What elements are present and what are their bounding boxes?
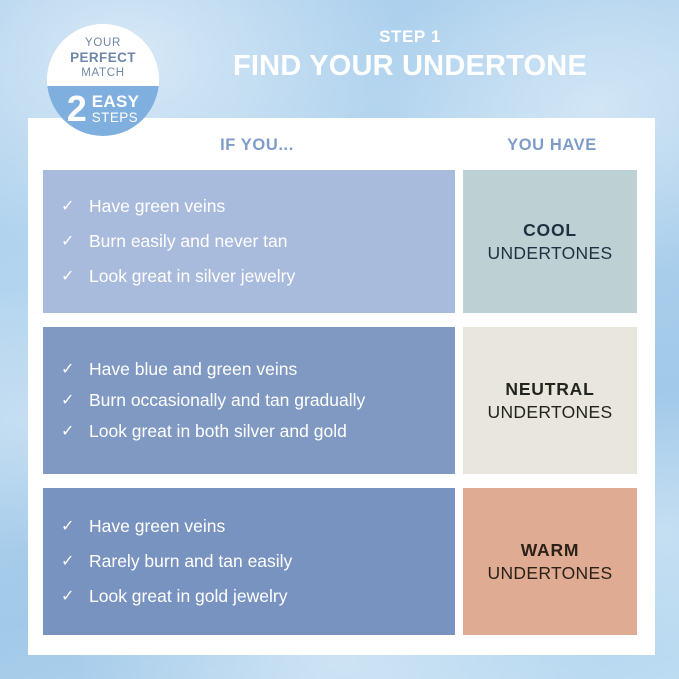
badge-step-count: 2 — [67, 91, 87, 127]
check-icon: ✓ — [59, 389, 89, 412]
criteria-panel: ✓ Have green veins ✓ Burn easily and nev… — [43, 170, 455, 313]
criteria-text: Rarely burn and tan easily — [89, 550, 441, 573]
criteria-panel: ✓ Have green veins ✓ Rarely burn and tan… — [43, 488, 455, 635]
undertone-name: WARM — [521, 539, 580, 562]
badge-line-your: YOUR — [85, 36, 121, 50]
criteria-item: ✓ Have blue and green veins — [59, 354, 441, 385]
undertone-row: ✓ Have green veins ✓ Rarely burn and tan… — [43, 488, 637, 635]
criteria-text: Have green veins — [89, 515, 441, 538]
check-icon: ✓ — [59, 265, 89, 288]
badge-word-steps: STEPS — [92, 111, 140, 125]
step-label: STEP 1 — [175, 27, 645, 47]
badge-top-half: YOUR PERFECT MATCH — [47, 24, 159, 86]
check-icon: ✓ — [59, 585, 89, 608]
badge-bottom-half: 2 EASY STEPS — [47, 86, 159, 136]
undertone-subtitle: UNDERTONES — [488, 242, 613, 265]
criteria-item: ✓ Have green veins — [59, 189, 441, 224]
column-header-if-you: IF YOU... — [43, 136, 471, 155]
badge-line-perfect: PERFECT — [70, 50, 136, 66]
column-header-you-have: YOU HAVE — [465, 136, 639, 155]
criteria-text: Look great in both silver and gold — [89, 420, 441, 443]
undertone-name: COOL — [523, 219, 577, 242]
page-header: STEP 1 FIND YOUR UNDERTONE — [175, 27, 645, 83]
criteria-item: ✓ Look great in both silver and gold — [59, 416, 441, 447]
undertone-row: ✓ Have blue and green veins ✓ Burn occas… — [43, 327, 637, 474]
page-title: FIND YOUR UNDERTONE — [175, 49, 645, 83]
undertone-name: NEUTRAL — [505, 378, 594, 401]
criteria-panel: ✓ Have blue and green veins ✓ Burn occas… — [43, 327, 455, 474]
undertone-swatch: WARM UNDERTONES — [463, 488, 637, 635]
perfect-match-badge: YOUR PERFECT MATCH 2 EASY STEPS — [47, 24, 159, 136]
criteria-text: Burn easily and never tan — [89, 230, 441, 253]
undertone-row: ✓ Have green veins ✓ Burn easily and nev… — [43, 170, 637, 313]
undertone-swatch: NEUTRAL UNDERTONES — [463, 327, 637, 474]
criteria-item: ✓ Burn occasionally and tan gradually — [59, 385, 441, 416]
check-icon: ✓ — [59, 515, 89, 538]
check-icon: ✓ — [59, 230, 89, 253]
criteria-item: ✓ Have green veins — [59, 509, 441, 544]
criteria-text: Have green veins — [89, 195, 441, 218]
criteria-item: ✓ Look great in gold jewelry — [59, 579, 441, 614]
badge-word-easy: EASY — [92, 93, 140, 110]
criteria-item: ✓ Burn easily and never tan — [59, 224, 441, 259]
criteria-text: Look great in gold jewelry — [89, 585, 441, 608]
undertone-subtitle: UNDERTONES — [488, 562, 613, 585]
check-icon: ✓ — [59, 550, 89, 573]
criteria-text: Have blue and green veins — [89, 358, 441, 381]
undertone-swatch: COOL UNDERTONES — [463, 170, 637, 313]
check-icon: ✓ — [59, 420, 89, 443]
check-icon: ✓ — [59, 195, 89, 218]
criteria-text: Look great in silver jewelry — [89, 265, 441, 288]
criteria-text: Burn occasionally and tan gradually — [89, 389, 441, 412]
badge-step-words: EASY STEPS — [92, 93, 140, 125]
check-icon: ✓ — [59, 358, 89, 381]
undertone-subtitle: UNDERTONES — [488, 401, 613, 424]
criteria-item: ✓ Rarely burn and tan easily — [59, 544, 441, 579]
criteria-item: ✓ Look great in silver jewelry — [59, 259, 441, 294]
badge-line-match: MATCH — [81, 66, 125, 80]
